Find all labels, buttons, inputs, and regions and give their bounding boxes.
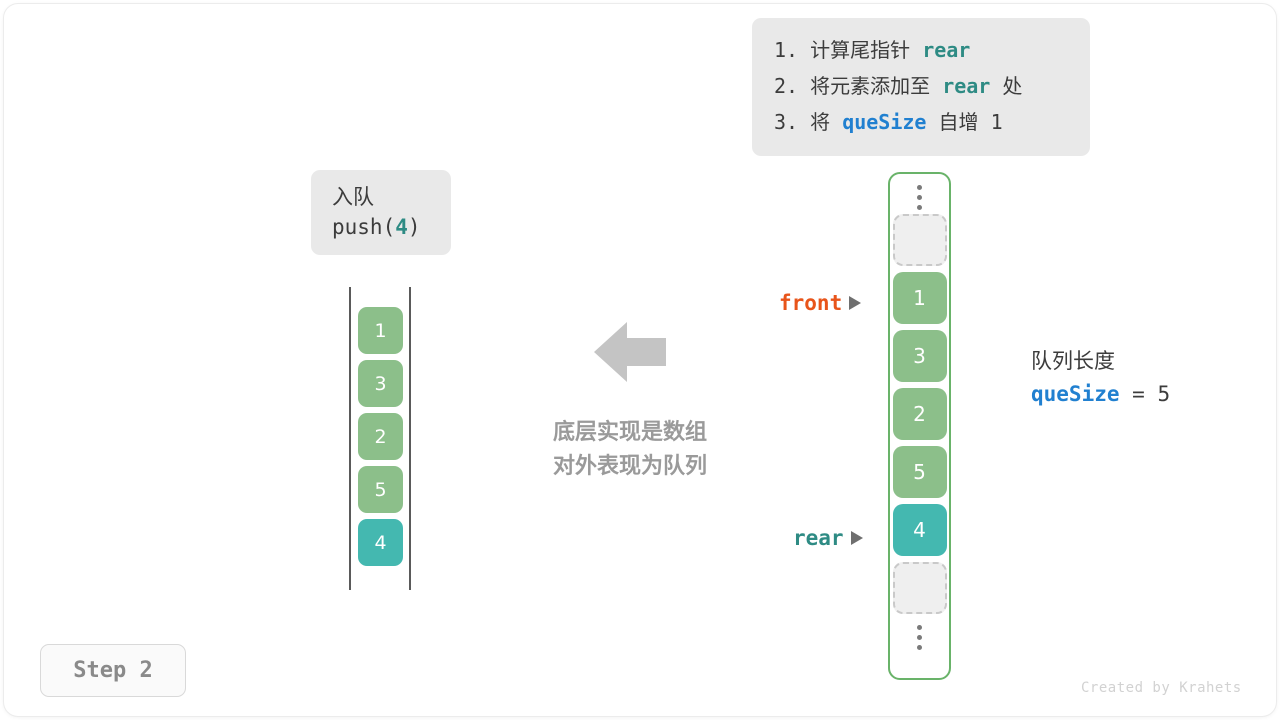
queue-cell: 5 bbox=[358, 466, 403, 513]
push-call-value: 4 bbox=[395, 215, 408, 239]
push-call-prefix: push( bbox=[332, 215, 395, 239]
instruction-1-number: 1. bbox=[774, 38, 798, 62]
queue-cell-new: 4 bbox=[358, 519, 403, 566]
array-cell: 1 bbox=[893, 272, 947, 324]
push-box-title: 入队 bbox=[332, 182, 451, 212]
pointer-triangle-icon bbox=[849, 296, 861, 310]
rear-pointer-label: rear bbox=[793, 526, 844, 550]
array-cell: 5 bbox=[893, 446, 947, 498]
instruction-2-keyword: rear bbox=[942, 74, 990, 98]
left-arrow-icon bbox=[594, 322, 666, 382]
diagram-canvas: 1. 计算尾指针 rear 2. 将元素添加至 rear 处 3. 将 queS… bbox=[4, 4, 1276, 716]
queue-cell: 1 bbox=[358, 307, 403, 354]
quesize-info: 队列长度 queSize = 5 bbox=[1031, 345, 1170, 411]
instruction-box: 1. 计算尾指针 rear 2. 将元素添加至 rear 处 3. 将 queS… bbox=[752, 18, 1090, 156]
quesize-label: 队列长度 bbox=[1031, 345, 1170, 377]
queue-cell: 3 bbox=[358, 360, 403, 407]
queue-cell-list: 1 3 2 5 4 bbox=[358, 307, 403, 572]
queue-rail-right bbox=[409, 287, 411, 590]
array-cell-new: 4 bbox=[893, 504, 947, 556]
front-pointer-label: front bbox=[779, 291, 842, 315]
array-cell-empty bbox=[893, 562, 947, 614]
instruction-3-number: 3. bbox=[774, 110, 798, 134]
rear-pointer: rear bbox=[793, 526, 863, 550]
queue-cell: 2 bbox=[358, 413, 403, 460]
instruction-2-post: 处 bbox=[990, 74, 1022, 98]
vertical-ellipsis-icon bbox=[917, 620, 923, 654]
array-cell-empty bbox=[893, 214, 947, 266]
instruction-3-text: 将 bbox=[810, 110, 842, 134]
credit-text: Created by Krahets bbox=[1081, 680, 1242, 696]
instruction-3-post: 自增 1 bbox=[926, 110, 1002, 134]
instruction-3-keyword: queSize bbox=[842, 110, 926, 134]
pointer-triangle-icon bbox=[851, 531, 863, 545]
backing-array: 1 3 2 5 4 bbox=[888, 172, 951, 680]
instruction-line-1: 1. 计算尾指针 rear bbox=[752, 32, 1090, 68]
front-pointer: front bbox=[779, 291, 861, 315]
instruction-1-text: 计算尾指针 bbox=[810, 38, 922, 62]
instruction-line-3: 3. 将 queSize 自增 1 bbox=[752, 104, 1090, 140]
vertical-ellipsis-icon bbox=[917, 180, 923, 214]
quesize-expression: queSize = 5 bbox=[1031, 377, 1170, 411]
caption-line-1: 底层实现是数组 bbox=[532, 416, 728, 450]
caption-line-2: 对外表现为队列 bbox=[532, 450, 728, 484]
array-cell: 2 bbox=[893, 388, 947, 440]
abstract-queue: 1 3 2 5 4 bbox=[349, 287, 413, 590]
instruction-1-keyword: rear bbox=[922, 38, 970, 62]
instruction-2-text: 将元素添加至 bbox=[810, 74, 942, 98]
diagram-caption: 底层实现是数组 对外表现为队列 bbox=[532, 416, 728, 484]
push-box-call: push(4) bbox=[332, 212, 451, 242]
quesize-value: 5 bbox=[1157, 382, 1170, 406]
quesize-equals: = bbox=[1120, 382, 1158, 406]
quesize-variable: queSize bbox=[1031, 382, 1120, 406]
step-badge: Step 2 bbox=[40, 644, 186, 697]
array-cell: 3 bbox=[893, 330, 947, 382]
push-operation-box: 入队 push(4) bbox=[311, 170, 451, 255]
queue-rail-left bbox=[349, 287, 351, 590]
push-call-suffix: ) bbox=[408, 215, 421, 239]
instruction-line-2: 2. 将元素添加至 rear 处 bbox=[752, 68, 1090, 104]
instruction-2-number: 2. bbox=[774, 74, 798, 98]
left-arrow-svg bbox=[594, 322, 666, 382]
